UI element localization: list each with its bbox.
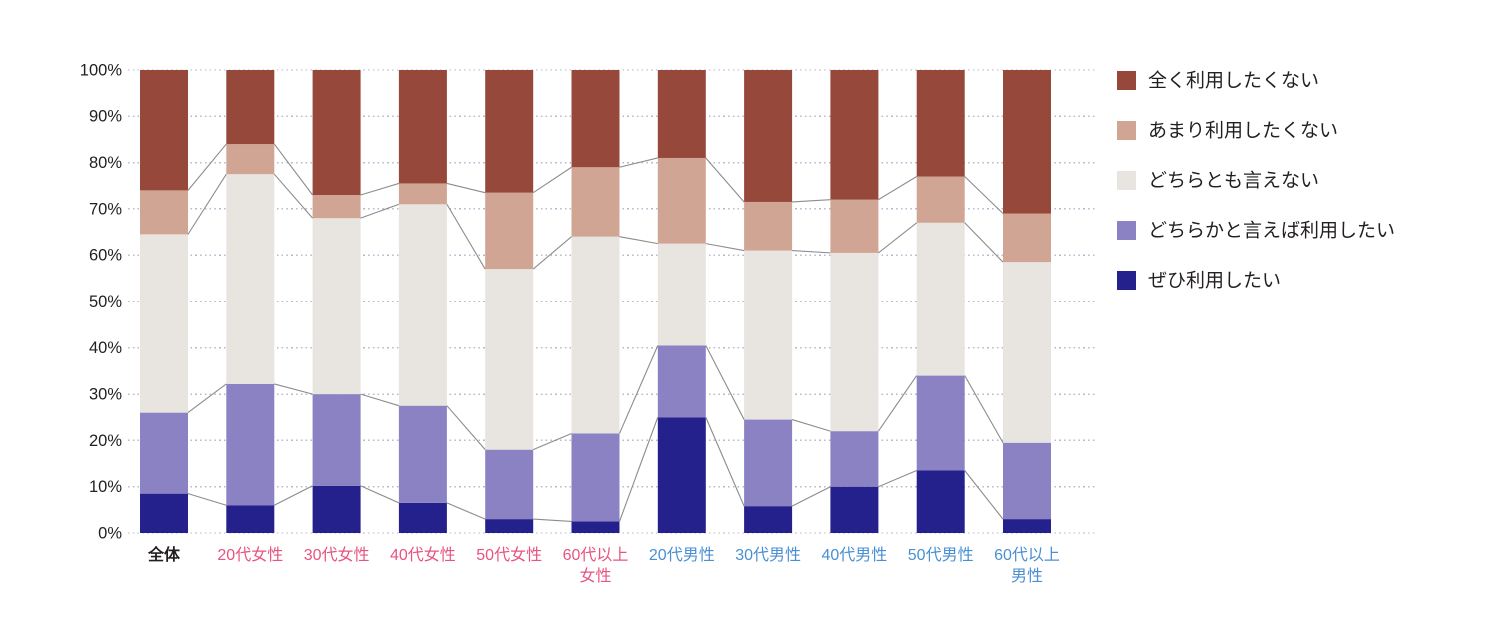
y-axis-tick-label: 70% — [89, 200, 122, 218]
connector-line — [533, 237, 571, 269]
bar-segment — [1003, 443, 1051, 519]
connector-line — [706, 417, 744, 506]
y-axis-tick-label: 10% — [89, 478, 122, 496]
bar-segment — [226, 505, 274, 533]
x-axis-tick-label: 60代以上女性 — [563, 546, 629, 585]
bar-segment — [572, 70, 620, 167]
legend-swatch — [1117, 71, 1136, 90]
bars-group — [140, 70, 1051, 533]
bar-segment — [226, 384, 274, 505]
x-axis-tick-label: 30代女性 — [304, 545, 370, 564]
x-axis-tick-label: 30代男性 — [735, 546, 801, 564]
stacked-bar — [140, 70, 188, 533]
legend-swatch — [1117, 121, 1136, 140]
stacked-bar — [226, 70, 274, 533]
stacked-bar — [658, 70, 706, 533]
stacked-bar-chart: 0%10%20%30%40%50%60%70%80%90%100% 全体20代女… — [0, 0, 1500, 641]
bar-segment — [917, 223, 965, 376]
connector-line — [533, 433, 571, 449]
y-axis-tick-label: 90% — [89, 108, 122, 126]
bar-segment — [572, 167, 620, 236]
y-axis-tick-label: 30% — [89, 385, 122, 403]
legend-swatch — [1117, 271, 1136, 290]
connector-line — [792, 251, 830, 253]
bar-segment — [658, 417, 706, 533]
y-axis-tick-label: 0% — [98, 524, 122, 542]
bar-segment — [313, 486, 361, 533]
bar-segment — [140, 494, 188, 533]
x-axis-tick-labels: 全体20代女性30代女性40代女性50代女性60代以上女性20代男性30代男性4… — [147, 545, 1060, 585]
bar-segment — [399, 70, 447, 183]
bar-segment — [1003, 262, 1051, 443]
y-axis-tick-label: 50% — [89, 293, 122, 311]
legend-swatch — [1117, 221, 1136, 240]
connector-line — [274, 174, 312, 218]
connector-line — [361, 183, 399, 195]
x-axis-tick-label: 全体 — [147, 545, 181, 564]
bar-segment — [485, 450, 533, 519]
connector-line — [188, 384, 226, 413]
bar-segment — [658, 70, 706, 158]
legend-label: ぜひ利用したい — [1148, 270, 1281, 292]
bar-segment — [917, 376, 965, 471]
bar-segment — [485, 193, 533, 269]
connector-line — [361, 486, 399, 503]
connector-line — [361, 394, 399, 406]
x-axis-tick-label: 50代男性 — [908, 546, 974, 564]
y-axis-tick-label: 20% — [89, 432, 122, 450]
bar-segment — [917, 70, 965, 176]
legend-label: あまり利用したくない — [1148, 120, 1338, 142]
legend-swatch — [1117, 171, 1136, 190]
connector-line — [620, 417, 658, 521]
bar-segment — [313, 394, 361, 486]
bar-segment — [1003, 214, 1051, 263]
y-axis-tick-label: 60% — [89, 247, 122, 265]
bar-segment — [226, 174, 274, 384]
stacked-bar — [917, 70, 965, 533]
x-axis-tick-label: 60代以上男性 — [994, 546, 1060, 585]
connector-line — [878, 376, 916, 432]
y-axis-tick-label: 100% — [80, 61, 123, 79]
connector-line — [965, 470, 1003, 519]
bar-segment — [744, 420, 792, 507]
connector-line — [878, 223, 916, 253]
x-axis-tick-label: 20代男性 — [649, 546, 715, 564]
bar-segment — [744, 202, 792, 251]
connector-line — [447, 183, 485, 192]
bar-segment — [485, 269, 533, 450]
bar-segment — [917, 176, 965, 222]
connector-line — [620, 345, 658, 433]
connector-line — [274, 486, 312, 505]
bar-segment — [140, 70, 188, 190]
connector-line — [447, 503, 485, 519]
bar-segment — [830, 200, 878, 253]
stacked-bar — [485, 70, 533, 533]
bar-segment — [226, 70, 274, 144]
bar-segment — [572, 237, 620, 434]
bar-segment — [485, 519, 533, 533]
y-axis-tick-labels: 0%10%20%30%40%50%60%70%80%90%100% — [80, 61, 123, 542]
stacked-bar — [572, 70, 620, 533]
stacked-bar — [399, 70, 447, 533]
stacked-bar — [744, 70, 792, 533]
connector-line — [965, 376, 1003, 443]
legend-label: 全く利用したくない — [1148, 70, 1319, 92]
x-axis-tick-label: 40代女性 — [390, 545, 456, 564]
connector-line — [274, 384, 312, 394]
legend: 全く利用したくないあまり利用したくないどちらとも言えないどちらかと言えば利用した… — [1117, 70, 1395, 292]
connector-line — [361, 204, 399, 218]
connector-line — [878, 176, 916, 199]
connector-line — [447, 204, 485, 269]
bar-segment — [830, 487, 878, 533]
stacked-bar — [1003, 70, 1051, 533]
connector-line — [965, 223, 1003, 262]
legend-label: どちらとも言えない — [1148, 170, 1319, 192]
bar-segment — [399, 503, 447, 533]
connector-line — [533, 167, 571, 192]
bar-segment — [572, 521, 620, 533]
bar-segment — [140, 413, 188, 494]
y-axis-tick-label: 40% — [89, 339, 122, 357]
stacked-bar — [313, 70, 361, 533]
connector-line — [965, 176, 1003, 213]
connector-line — [878, 470, 916, 486]
bar-segment — [830, 70, 878, 200]
bar-segment — [1003, 70, 1051, 214]
bar-segment — [658, 158, 706, 244]
bar-segment — [399, 183, 447, 204]
connector-line — [792, 420, 830, 432]
bar-segment — [226, 144, 274, 174]
stacked-bar — [830, 70, 878, 533]
connector-line — [274, 144, 312, 195]
bar-segment — [399, 406, 447, 503]
y-axis-tick-label: 80% — [89, 154, 122, 172]
bar-segment — [1003, 519, 1051, 533]
bar-segment — [830, 431, 878, 487]
connector-line — [533, 519, 571, 521]
bar-segment — [140, 234, 188, 412]
bar-segment — [313, 218, 361, 394]
bar-segment — [658, 345, 706, 417]
legend-label: どちらかと言えば利用したい — [1148, 220, 1395, 242]
bar-segment — [572, 433, 620, 521]
bar-segment — [744, 251, 792, 420]
bar-segment — [313, 195, 361, 218]
bar-segment — [744, 506, 792, 533]
bar-segment — [744, 70, 792, 202]
connector-line — [447, 406, 485, 450]
bar-segment — [485, 70, 533, 193]
connector-line — [188, 494, 226, 506]
x-axis-tick-label: 40代男性 — [821, 546, 887, 564]
connector-line — [792, 487, 830, 506]
x-axis-tick-label: 20代女性 — [217, 545, 283, 564]
chart-canvas: 0%10%20%30%40%50%60%70%80%90%100% 全体20代女… — [0, 0, 1500, 641]
connector-line — [706, 158, 744, 202]
bar-segment — [658, 244, 706, 346]
bar-segment — [140, 190, 188, 234]
bar-segment — [399, 204, 447, 405]
connector-line — [706, 244, 744, 251]
bar-segment — [917, 470, 965, 533]
connector-line — [792, 200, 830, 202]
bar-segment — [313, 70, 361, 195]
connector-line — [620, 237, 658, 244]
connector-line — [706, 345, 744, 419]
bar-segment — [830, 253, 878, 431]
x-axis-tick-label: 50代女性 — [476, 545, 542, 564]
